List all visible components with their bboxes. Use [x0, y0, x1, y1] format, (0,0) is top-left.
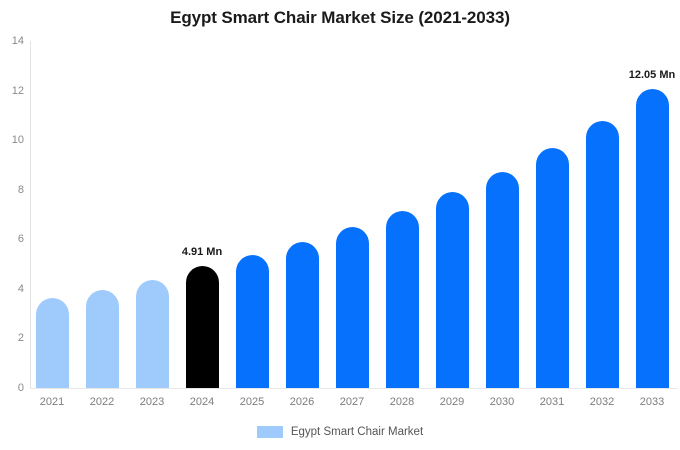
bar[interactable]: [586, 121, 619, 388]
bar[interactable]: [136, 280, 169, 388]
bar[interactable]: [186, 266, 219, 388]
legend-swatch-icon: [257, 426, 283, 438]
bar-value-label: 4.91 Mn: [182, 246, 222, 258]
bar[interactable]: [36, 298, 69, 388]
x-axis-line: [30, 388, 678, 389]
bar[interactable]: [236, 255, 269, 388]
bar[interactable]: [486, 172, 519, 388]
bar[interactable]: [86, 290, 119, 388]
chart-legend: Egypt Smart Chair Market: [0, 426, 680, 438]
chart-title: Egypt Smart Chair Market Size (2021-2033…: [0, 8, 680, 28]
y-axis-tick: 10: [0, 134, 24, 146]
y-axis-tick: 4: [0, 283, 24, 295]
legend-item-label: Egypt Smart Chair Market: [291, 426, 423, 438]
bar[interactable]: [636, 89, 669, 388]
chart-container: Egypt Smart Chair Market Size (2021-2033…: [0, 0, 680, 450]
bar-value-label: 12.05 Mn: [629, 69, 675, 81]
bar[interactable]: [436, 192, 469, 388]
y-axis-tick: 2: [0, 332, 24, 344]
y-axis-tick: 8: [0, 184, 24, 196]
bar[interactable]: [536, 148, 569, 388]
y-axis-tick: 14: [0, 35, 24, 47]
x-axis-tick: 2033: [622, 396, 680, 408]
y-axis-tick: 6: [0, 233, 24, 245]
bar[interactable]: [286, 242, 319, 388]
y-axis-tick: 12: [0, 85, 24, 97]
bar[interactable]: [336, 227, 369, 388]
plot-area: [30, 41, 678, 388]
y-axis-tick: 0: [0, 382, 24, 394]
bar[interactable]: [386, 211, 419, 388]
